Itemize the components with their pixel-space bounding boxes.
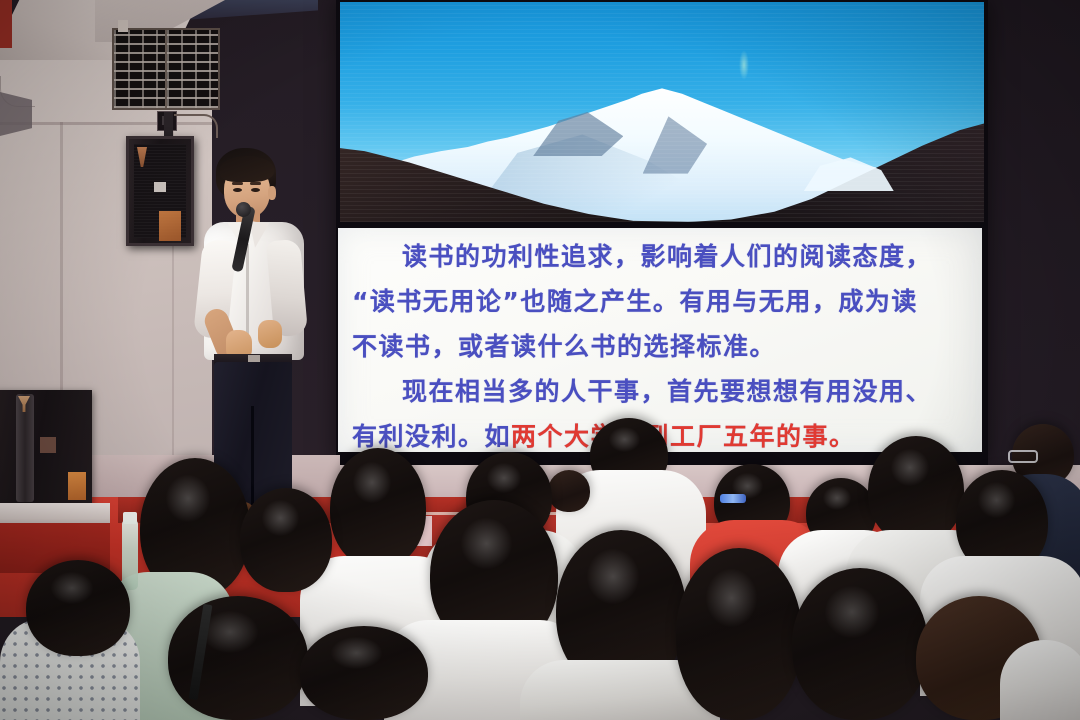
- presenter-eye-left: [233, 188, 242, 192]
- presenter-hand-right: [258, 320, 282, 348]
- photo-lens-flare: [739, 50, 749, 80]
- ceiling-vent-grille: [112, 28, 220, 110]
- slide-text-segment: 有利没利。如: [352, 422, 511, 451]
- slide-text-segment: 现在相当多的人干事，首先要想想有用没用、: [402, 377, 932, 406]
- equipment-orange-panel: [68, 472, 86, 500]
- slide-line: “读书无用论”也随之产生。有用与无用，成为读: [352, 279, 972, 324]
- presenter-hair-fringe: [220, 156, 274, 182]
- vent-panel-left: [114, 30, 167, 108]
- podium-skirt: [0, 523, 110, 573]
- audience-body: [520, 660, 720, 720]
- stage-equipment-box: [0, 390, 92, 506]
- speaker-woofer: [159, 211, 181, 241]
- presenter-eyebrow-right: [250, 182, 261, 185]
- audience-body: [384, 620, 584, 720]
- bag-strap: [189, 604, 213, 700]
- audience-body: [1000, 640, 1080, 720]
- ceiling-accent-red: [0, 0, 12, 48]
- audience-body: [0, 618, 140, 720]
- lecture-hall-scene: 读书的功利性追求，影响着人们的阅读态度，“读书无用论”也随之产生。有用与无用，成…: [0, 0, 1080, 720]
- podium-top: [0, 503, 110, 525]
- slide-line: 现在相当多的人干事，首先要想想有用没用、: [352, 369, 972, 414]
- equipment-badge: [40, 437, 56, 453]
- slide-line: 有利没利。如两个大学生到工厂五年的事。: [352, 414, 972, 452]
- slide-body-text: 读书的功利性追求，影响着人们的阅读态度，“读书无用论”也随之产生。有用与无用，成…: [352, 234, 972, 452]
- speaker-presenter: [196, 148, 316, 524]
- audience-head: [300, 626, 428, 720]
- speaker-mount-bracket: [164, 112, 173, 136]
- slide-text-segment: “读书无用论”也随之产生。有用与无用，成为读: [352, 287, 918, 316]
- wall-pa-speaker: [126, 136, 194, 246]
- speaker-brand-badge: [154, 182, 166, 192]
- slide-text-segment: 读书的功利性追求，影响着人们的阅读态度，: [402, 242, 932, 271]
- slide-line: 读书的功利性追求，影响着人们的阅读态度，: [352, 234, 972, 279]
- vent-clip: [118, 20, 128, 32]
- slide-photo-area: [340, 2, 984, 222]
- slide-text-segment: 不读书，或者读什么书的选择标准。: [352, 332, 776, 361]
- vent-panel-right: [167, 30, 218, 108]
- front-row-bench-ledge: [386, 560, 656, 582]
- presenter-eyebrow-left: [232, 182, 243, 185]
- presenter-shoe-right: [254, 502, 296, 516]
- stage-banner: [388, 516, 432, 546]
- presenter-eye-right: [251, 188, 260, 192]
- slide-highlight-text: 两个大学生到工厂五年的事。: [511, 422, 856, 451]
- presenter-shoe-left: [214, 502, 254, 516]
- slide-text-panel: 读书的功利性追求，影响着人们的阅读态度，“读书无用论”也随之产生。有用与无用，成…: [338, 228, 982, 452]
- presenter-ear: [268, 186, 276, 200]
- speaker-cable: [174, 114, 218, 138]
- presenter-trouser-seam: [251, 406, 254, 510]
- back-wall-dark-right: [985, 0, 1080, 470]
- slide-line: 不读书，或者读什么书的选择标准。: [352, 324, 972, 369]
